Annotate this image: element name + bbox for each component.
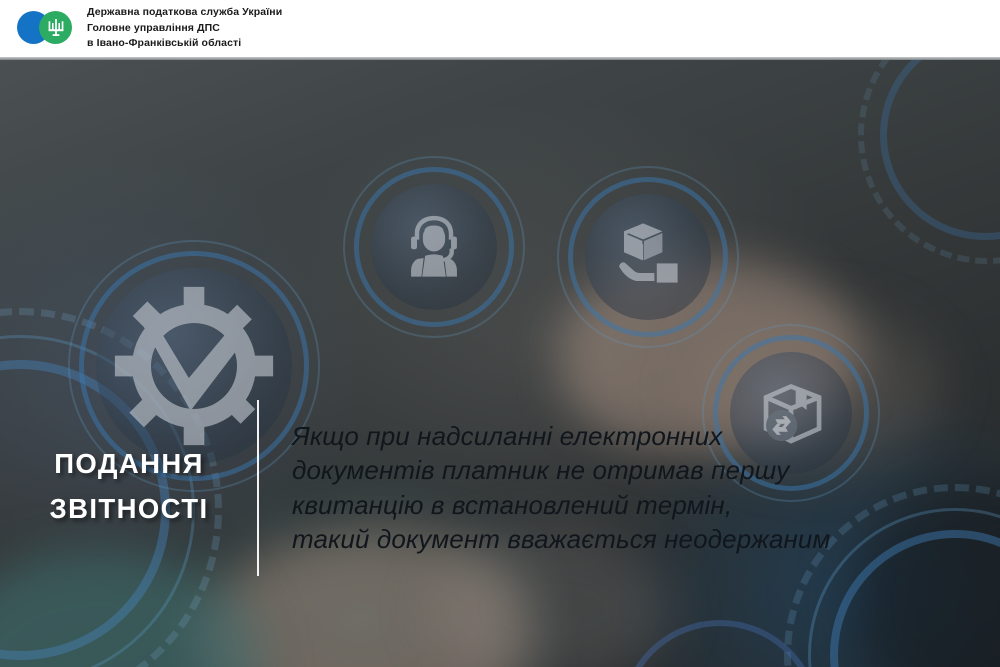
hud-ring-topright-dashed [858,60,1000,264]
banner-title-line-2: ЗВІТНОСТІ [50,486,209,531]
header-divider [0,57,1000,60]
banner-message-line-1: Якщо при надсиланні електронних [292,419,830,454]
header-line-2: Головне управління ДПС [87,21,407,37]
header-line-3: в Івано-Франківській області [87,36,407,52]
banner-vertical-divider [257,400,259,576]
trident-icon [47,17,65,38]
hud-ring-topright-1 [880,60,1000,240]
dps-logo[interactable] [17,10,81,46]
hand-holding-box-icon [608,217,688,297]
banner-title: ПОДАННЯ ЗВІТНОСТІ [50,441,209,535]
header-organisation-text: Державна податкова служба України Головн… [87,5,407,52]
banner-message-panel: Якщо при надсиланні електронних документ… [258,383,1000,592]
banner-message: Якщо при надсиланні електронних документ… [292,419,830,557]
banner-page: Державна податкова служба України Головн… [0,0,1000,667]
banner-title-line-1: ПОДАННЯ [50,441,209,486]
site-header: Державна податкова служба України Головн… [0,0,1000,57]
header-line-1: Державна податкова служба України [87,5,407,21]
info-banner: ПОДАННЯ ЗВІТНОСТІ Якщо при надсиланні ел… [0,383,1000,592]
icon-disc-hand-holding-box [585,194,711,320]
banner-message-line-2: документів платник не отримав першу [292,453,830,488]
banner-message-line-3: квитанцію в встановлений термін, [292,488,830,523]
banner-title-panel: ПОДАННЯ ЗВІТНОСТІ [0,383,258,592]
banner-message-line-4: такий документ вважається неодержаним [292,522,830,557]
icon-disc-support-agent [371,184,497,310]
support-agent-headset-icon [397,210,471,284]
